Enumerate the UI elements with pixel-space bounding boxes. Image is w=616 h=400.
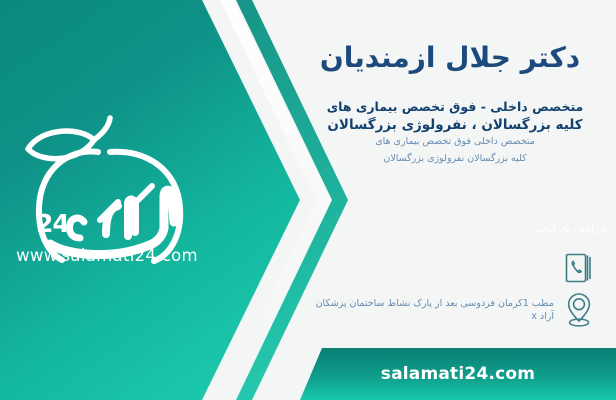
specialty-sub-line-1: متخصص داخلی فوق تخصص بیماری های [302,133,608,150]
specialty-line-1: متخصص داخلی - فوق تخصص بیماری های [302,98,608,116]
specialty-sub-line-2: کلیه بزرگسالان نفرولوژی بزرگسالان [302,150,608,167]
doctor-specialty: متخصص داخلی - فوق تخصص بیماری های کلیه ب… [302,98,608,136]
doctor-name: دکتر جلال ازمندیان [302,40,598,75]
footer-site-url[interactable]: salamati24.com [300,364,616,384]
doctor-specialty-secondary: متخصص داخلی فوق تخصص بیماری های کلیه بزر… [302,133,608,167]
card-content: دکتر جلال ازمندیان متخصص داخلی - فوق تخص… [296,0,616,400]
map-pin-icon[interactable] [564,292,594,328]
logo-tagline: به راحتی یک لبخند [535,224,610,235]
footer-bar: salamati24.com [300,348,616,400]
logo-url[interactable]: www.salamati24.com [0,246,214,265]
svg-text:24: 24 [36,209,69,238]
business-card: 24 به راحتی یک لبخند www.salamati24.com … [0,0,616,400]
brand-logo: 24 [6,104,216,269]
phone-book-icon[interactable] [564,252,594,284]
clinic-address: مطب 1کرمان فردوسی بعد از پارک نشاط ساختم… [304,297,554,324]
